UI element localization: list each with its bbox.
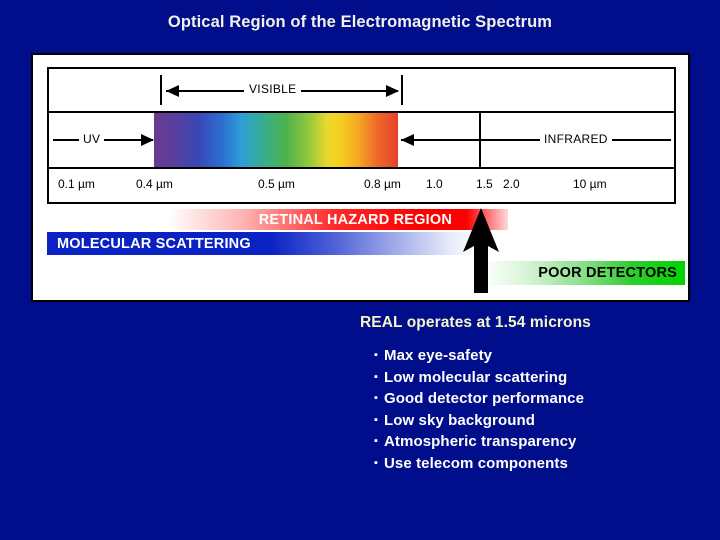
- list-item-label: Low molecular scattering: [384, 369, 567, 386]
- visible-arrowhead-left-icon: [166, 85, 179, 97]
- benefits-bullet-list: ▪Max eye-safety ▪Low molecular scatterin…: [374, 345, 584, 474]
- bullet-icon: ▪: [374, 453, 384, 475]
- list-item: ▪Good detector performance: [374, 388, 584, 410]
- visible-band-label: VISIBLE: [244, 82, 301, 96]
- real-operating-wavelength-heading: REAL operates at 1.54 microns: [360, 314, 591, 332]
- list-item-label: Good detector performance: [384, 390, 584, 407]
- molecular-scattering-label: MOLECULAR SCATTERING: [57, 236, 251, 252]
- wavelength-band-row: UV INFRARED: [49, 113, 674, 169]
- bullet-icon: ▪: [374, 410, 384, 432]
- list-item: ▪Low molecular scattering: [374, 367, 584, 389]
- list-item: ▪Use telecom components: [374, 453, 584, 475]
- uv-arrowhead-icon: [141, 134, 154, 146]
- axis-tick-label: 1.0: [426, 177, 443, 191]
- retinal-hazard-region-label: RETINAL HAZARD REGION: [259, 212, 452, 228]
- bullet-icon: ▪: [374, 345, 384, 367]
- list-item-label: Low sky background: [384, 412, 535, 429]
- wavelength-axis-row: 0.1 µm 0.4 µm 0.5 µm 0.8 µm 1.0 1.5 2.0 …: [49, 169, 674, 202]
- infrared-arrow-line: [401, 139, 671, 141]
- molecular-scattering-bar: MOLECULAR SCATTERING: [47, 232, 477, 255]
- infrared-arrowhead-icon: [401, 134, 414, 146]
- axis-tick-label: 0.5 µm: [258, 177, 295, 191]
- poor-detectors-bar: POOR DETECTORS: [482, 261, 685, 285]
- axis-tick-label: 10 µm: [573, 177, 607, 191]
- list-item: ▪Low sky background: [374, 410, 584, 432]
- infrared-divider: [479, 113, 481, 167]
- spectrum-chart: VISIBLE UV INFRARED 0.1 µm 0.4 µm 0.5 µm…: [47, 67, 676, 204]
- axis-tick-label: 0.1 µm: [58, 177, 95, 191]
- list-item: ▪Max eye-safety: [374, 345, 584, 367]
- visible-range-row: VISIBLE: [49, 69, 674, 113]
- poor-detectors-label: POOR DETECTORS: [538, 265, 677, 281]
- visible-start-tick: [160, 75, 162, 105]
- bullet-icon: ▪: [374, 431, 384, 453]
- uv-label: UV: [79, 132, 104, 146]
- axis-tick-label: 0.4 µm: [136, 177, 173, 191]
- axis-tick-label: 1.5: [476, 177, 493, 191]
- infrared-label: INFRARED: [540, 132, 612, 146]
- page-title: Optical Region of the Electromagnetic Sp…: [0, 13, 720, 32]
- list-item-label: Atmospheric transparency: [384, 433, 576, 450]
- spectrum-figure-panel: VISIBLE UV INFRARED 0.1 µm 0.4 µm 0.5 µm…: [31, 53, 690, 302]
- bullet-icon: ▪: [374, 388, 384, 410]
- retinal-hazard-region-bar: RETINAL HAZARD REGION: [94, 209, 508, 230]
- axis-tick-label: 0.8 µm: [364, 177, 401, 191]
- axis-tick-label: 2.0: [503, 177, 520, 191]
- visible-spectrum-gradient: [154, 113, 398, 167]
- operating-wavelength-pointer-icon: [459, 208, 503, 293]
- list-item: ▪Atmospheric transparency: [374, 431, 584, 453]
- list-item-label: Use telecom components: [384, 455, 568, 472]
- visible-arrowhead-right-icon: [386, 85, 399, 97]
- list-item-label: Max eye-safety: [384, 347, 492, 364]
- visible-end-tick: [401, 75, 403, 105]
- bullet-icon: ▪: [374, 367, 384, 389]
